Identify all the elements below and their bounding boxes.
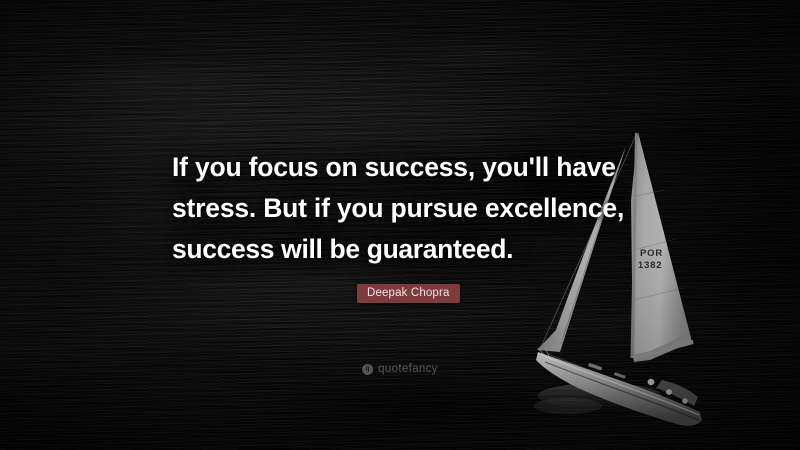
quote-text-block: If you focus on success, you'll have str…: [172, 147, 642, 270]
quote-line-1: If you focus on success, you'll have: [172, 147, 642, 188]
quote-line-2: stress. But if you pursue excellence,: [172, 188, 642, 229]
quote-poster: POR 1382 If you focus on succ: [0, 0, 800, 450]
author-badge[interactable]: Deepak Chopra: [357, 284, 460, 303]
quotefancy-logo-letter: q: [366, 366, 370, 372]
watermark[interactable]: q quotefancy: [362, 363, 438, 375]
watermark-label: quotefancy: [378, 363, 438, 375]
quotefancy-logo-icon: q: [362, 364, 373, 375]
quote-line-3: success will be guaranteed.: [172, 229, 642, 270]
